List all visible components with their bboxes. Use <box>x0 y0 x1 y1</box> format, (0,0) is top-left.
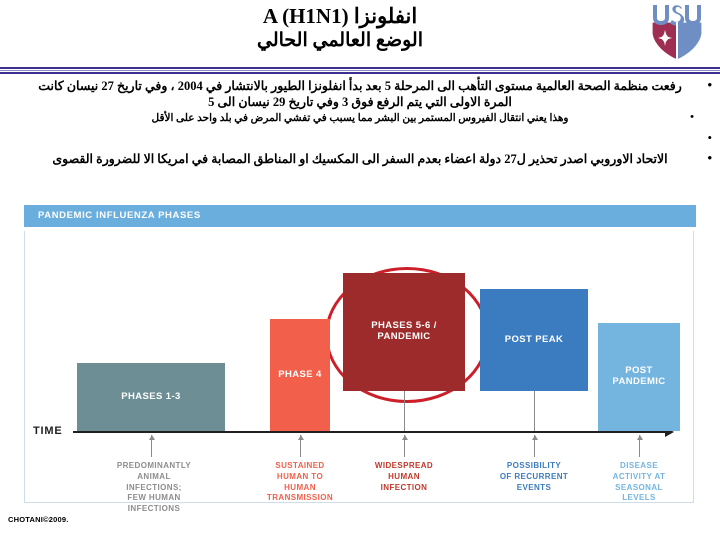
chart-bar: POST PEAK <box>480 289 588 391</box>
slide-header: انفلونزا A (H1N1) الوضع العالمي الحالي <box>0 0 720 66</box>
time-axis-label: TIME <box>33 425 62 437</box>
chart-bar: POSTPANDEMIC <box>598 323 680 431</box>
bar-leader-line <box>534 391 535 431</box>
chart-caption: PREDOMINANTLYANIMALINFECTIONS;FEW HUMANI… <box>103 461 205 515</box>
chart-bar: PHASES 1-3 <box>77 363 225 431</box>
chart-caption: WIDESPREADHUMANINFECTION <box>355 461 453 493</box>
title-line-primary: انفلونزا A (H1N1) <box>60 4 620 28</box>
bullet-text-1: رفعت منظمة الصحة العالمية مستوى التأهب ا… <box>38 79 682 109</box>
chart-plot-area: TIME PHASES 1-3PHASE 4PHASES 5-6 /PANDEM… <box>24 231 694 503</box>
chart-caption: DISEASEACTIVITY ATSEASONALLEVELS <box>595 461 683 504</box>
bar-leader-line <box>404 391 405 431</box>
bullet-item-1: رفعت منظمة الصحة العالمية مستوى التأهب ا… <box>8 78 712 125</box>
bullet-list: رفعت منظمة الصحة العالمية مستوى التأهب ا… <box>8 78 712 167</box>
caption-leader-arrow-icon <box>532 435 538 440</box>
caption-leader-arrow-icon <box>402 435 408 440</box>
time-axis-line <box>73 431 665 433</box>
bullet-text-2: الاتحاد الاوروبي اصدر تحذير ل27 دولة اعض… <box>52 152 667 166</box>
header-divider-top <box>0 67 720 69</box>
bullet-spacer <box>8 131 712 145</box>
header-divider-mid <box>0 70 720 71</box>
pandemic-phases-chart: PANDEMIC INFLUENZA PHASES TIME PHASES 1-… <box>24 205 696 505</box>
header-divider-bottom <box>0 72 720 74</box>
sub-bullet-list-1: وهذا يعني انتقال الفيروس المستمر بين الب… <box>24 112 696 125</box>
caption-leader-arrow-icon <box>149 435 155 440</box>
sub-bullet-item-1-1: وهذا يعني انتقال الفيروس المستمر بين الب… <box>24 112 696 125</box>
chart-bars-container: TIME PHASES 1-3PHASE 4PHASES 5-6 /PANDEM… <box>25 231 695 503</box>
caption-leader-arrow-icon <box>298 435 304 440</box>
usu-shield-logo-icon <box>646 2 708 64</box>
slide-body: رفعت منظمة الصحة العالمية مستوى التأهب ا… <box>8 78 712 173</box>
chart-bar: PHASES 5-6 /PANDEMIC <box>343 273 465 391</box>
chart-caption: POSSIBILITYOF RECURRENTEVENTS <box>480 461 588 493</box>
page-title: انفلونزا A (H1N1) الوضع العالمي الحالي <box>60 4 620 52</box>
chart-caption: SUSTAINEDHUMAN TOHUMANTRANSMISSION <box>250 461 350 504</box>
caption-leader-arrow-icon <box>637 435 643 440</box>
footer-credit: CHOTANI©2009. <box>8 515 69 524</box>
title-line-secondary: الوضع العالمي الحالي <box>60 30 620 52</box>
sub-bullet-text-1-1: وهذا يعني انتقال الفيروس المستمر بين الب… <box>152 113 569 124</box>
chart-title: PANDEMIC INFLUENZA PHASES <box>38 210 201 221</box>
chart-bar: PHASE 4 <box>270 319 330 431</box>
chart-title-bar: PANDEMIC INFLUENZA PHASES <box>24 205 696 227</box>
bullet-item-2: الاتحاد الاوروبي اصدر تحذير ل27 دولة اعض… <box>8 151 712 167</box>
